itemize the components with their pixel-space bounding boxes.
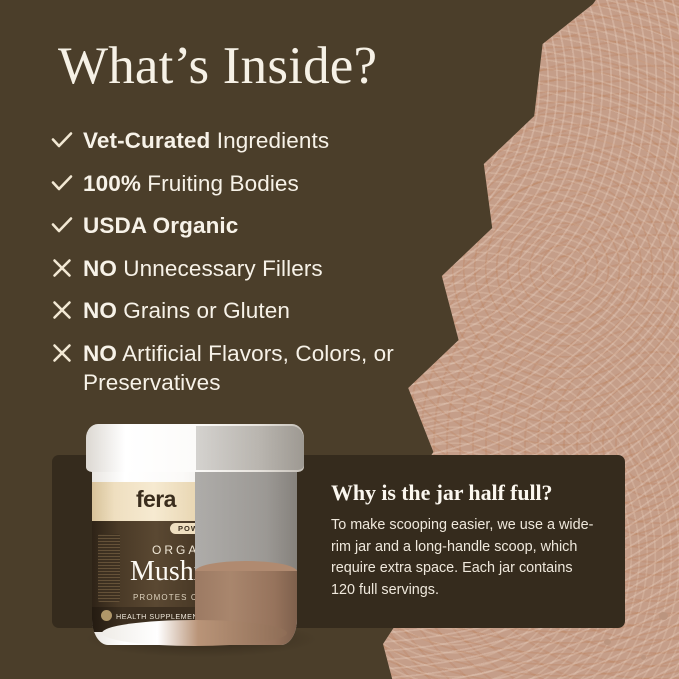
product-jar: fera POW ORGA Mushr PROMOTES COGNITIV HE… xyxy=(86,424,310,662)
list-item-strong: 100% xyxy=(83,171,141,196)
info-card: Why is the jar half full? To make scoopi… xyxy=(331,480,599,601)
list-item-label: NO Grains or Gluten xyxy=(83,296,290,325)
product-tagline: PROMOTES COGNITIV xyxy=(133,593,195,602)
list-item: USDA Organic xyxy=(49,211,479,240)
feature-list: Vet-Curated Ingredients 100% Fruiting Bo… xyxy=(49,126,479,410)
list-item: NO Grains or Gluten xyxy=(49,296,479,325)
jar-body: fera POW ORGA Mushr PROMOTES COGNITIV HE… xyxy=(92,460,297,645)
label-side-panel xyxy=(98,534,120,602)
list-item: Vet-Curated Ingredients xyxy=(49,126,479,155)
list-item-rest: Grains or Gluten xyxy=(117,298,290,323)
powder-speck xyxy=(604,639,611,645)
list-item-strong: NO xyxy=(83,298,117,323)
jar-lid xyxy=(86,424,304,472)
info-card-body: To make scooping easier, we use a wide-r… xyxy=(331,515,599,601)
powder-speck xyxy=(487,163,491,167)
check-icon xyxy=(49,212,83,240)
list-item-label: USDA Organic xyxy=(83,211,238,240)
list-item-rest: Artificial Flavors, Colors, or Preservat… xyxy=(83,341,394,395)
usda-seal-icon xyxy=(101,610,112,621)
brand-name: fera xyxy=(136,486,176,513)
whats-inside-infographic: What’s Inside? Vet-Curated Ingredients 1… xyxy=(0,0,679,679)
powder-speck xyxy=(641,655,646,660)
list-item: NO Artificial Flavors, Colors, or Preser… xyxy=(49,339,479,397)
jar-label: fera POW ORGA Mushr PROMOTES COGNITIV HE… xyxy=(92,460,195,645)
powder-badge: POW xyxy=(170,523,195,534)
list-item: NO Unnecessary Fillers xyxy=(49,254,479,283)
list-item-label: NO Artificial Flavors, Colors, or Preser… xyxy=(83,339,443,397)
cross-icon xyxy=(49,255,83,283)
jar-base xyxy=(102,620,287,646)
list-item: 100% Fruiting Bodies xyxy=(49,169,479,198)
list-item-strong: NO xyxy=(83,256,117,281)
page-title: What’s Inside? xyxy=(58,39,377,95)
list-item-rest: Fruiting Bodies xyxy=(141,171,299,196)
check-icon xyxy=(49,127,83,155)
info-card-title: Why is the jar half full? xyxy=(331,480,599,506)
cross-icon xyxy=(49,297,83,325)
list-item-label: Vet-Curated Ingredients xyxy=(83,126,329,155)
powder-speck xyxy=(659,612,668,620)
product-name: Mushr xyxy=(130,556,195,588)
list-item-label: 100% Fruiting Bodies xyxy=(83,169,299,198)
jar-lid-shading xyxy=(196,426,304,470)
list-item-label: NO Unnecessary Fillers xyxy=(83,254,323,283)
jar-cutaway xyxy=(195,460,298,645)
label-organic: ORGA xyxy=(152,543,195,557)
list-item-strong: NO xyxy=(83,341,117,366)
list-item-strong: Vet-Curated xyxy=(83,128,210,153)
check-icon xyxy=(49,170,83,198)
list-item-rest: Ingredients xyxy=(210,128,329,153)
list-item-rest: Unnecessary Fillers xyxy=(117,256,323,281)
cross-icon xyxy=(49,340,83,368)
list-item-strong: USDA Organic xyxy=(83,213,238,238)
